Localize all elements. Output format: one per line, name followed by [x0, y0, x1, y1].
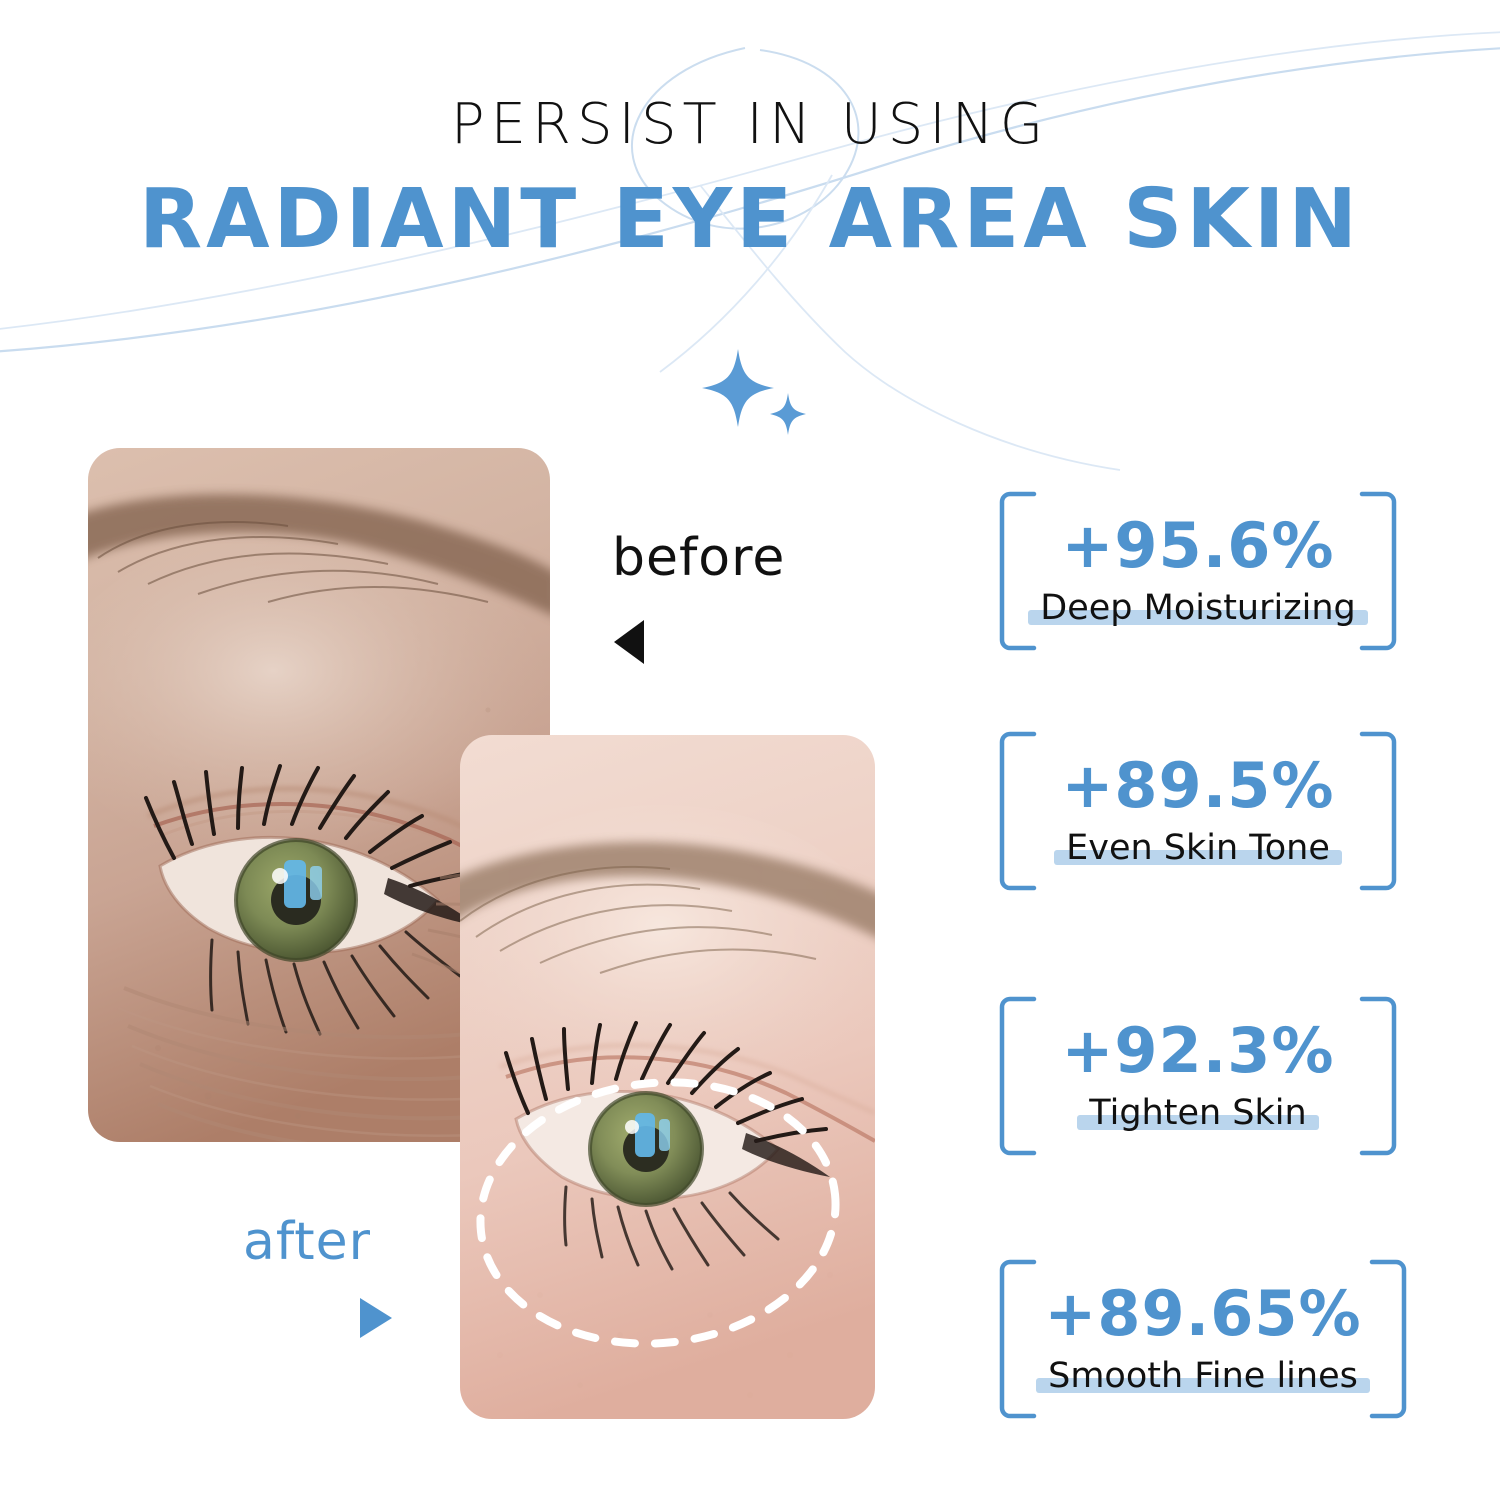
after-label: after	[243, 1212, 371, 1272]
stat-card-deep-moisturizing: +95.6% Deep Moisturizing	[998, 490, 1398, 652]
bracket-right-icon	[1358, 490, 1398, 652]
stat-label-highlight: Deep Moisturizing	[1034, 589, 1361, 628]
headline-line-2: RADIANT EYE AREA SKIN	[0, 177, 1500, 263]
headline-block: PERSIST IN USING RADIANT EYE AREA SKIN	[0, 96, 1500, 263]
stat-card-tighten-skin: +92.3% Tighten Skin	[998, 995, 1398, 1157]
stat-value: +89.5%	[1061, 755, 1334, 817]
bracket-right-icon	[1358, 995, 1398, 1157]
stat-label: Smooth Fine lines	[1048, 1357, 1358, 1396]
stat-value: +92.3%	[1061, 1020, 1334, 1082]
bracket-left-icon	[998, 490, 1038, 652]
bracket-left-icon	[998, 1258, 1038, 1420]
stat-label-highlight: Tighten Skin	[1083, 1094, 1312, 1133]
bracket-left-icon	[998, 995, 1038, 1157]
bracket-right-icon	[1368, 1258, 1408, 1420]
stat-card-even-skin-tone: +89.5% Even Skin Tone	[998, 730, 1398, 892]
stat-label: Deep Moisturizing	[1040, 589, 1355, 628]
before-label: before	[612, 528, 785, 588]
stat-card-smooth-fine-lines: +89.65% Smooth Fine lines	[998, 1258, 1408, 1420]
stat-label-highlight: Smooth Fine lines	[1042, 1357, 1364, 1396]
stat-label: Even Skin Tone	[1066, 829, 1330, 868]
bracket-left-icon	[998, 730, 1038, 892]
stat-label: Tighten Skin	[1089, 1094, 1306, 1133]
stat-value: +95.6%	[1061, 515, 1334, 577]
headline-line-1: PERSIST IN USING	[0, 96, 1500, 155]
bracket-right-icon	[1358, 730, 1398, 892]
stat-label-highlight: Even Skin Tone	[1060, 829, 1336, 868]
right-triangle-icon	[360, 1298, 392, 1338]
left-triangle-icon	[614, 620, 644, 664]
stat-value: +89.65%	[1044, 1283, 1361, 1345]
after-photo	[460, 735, 875, 1419]
sparkle-icon	[700, 345, 820, 435]
